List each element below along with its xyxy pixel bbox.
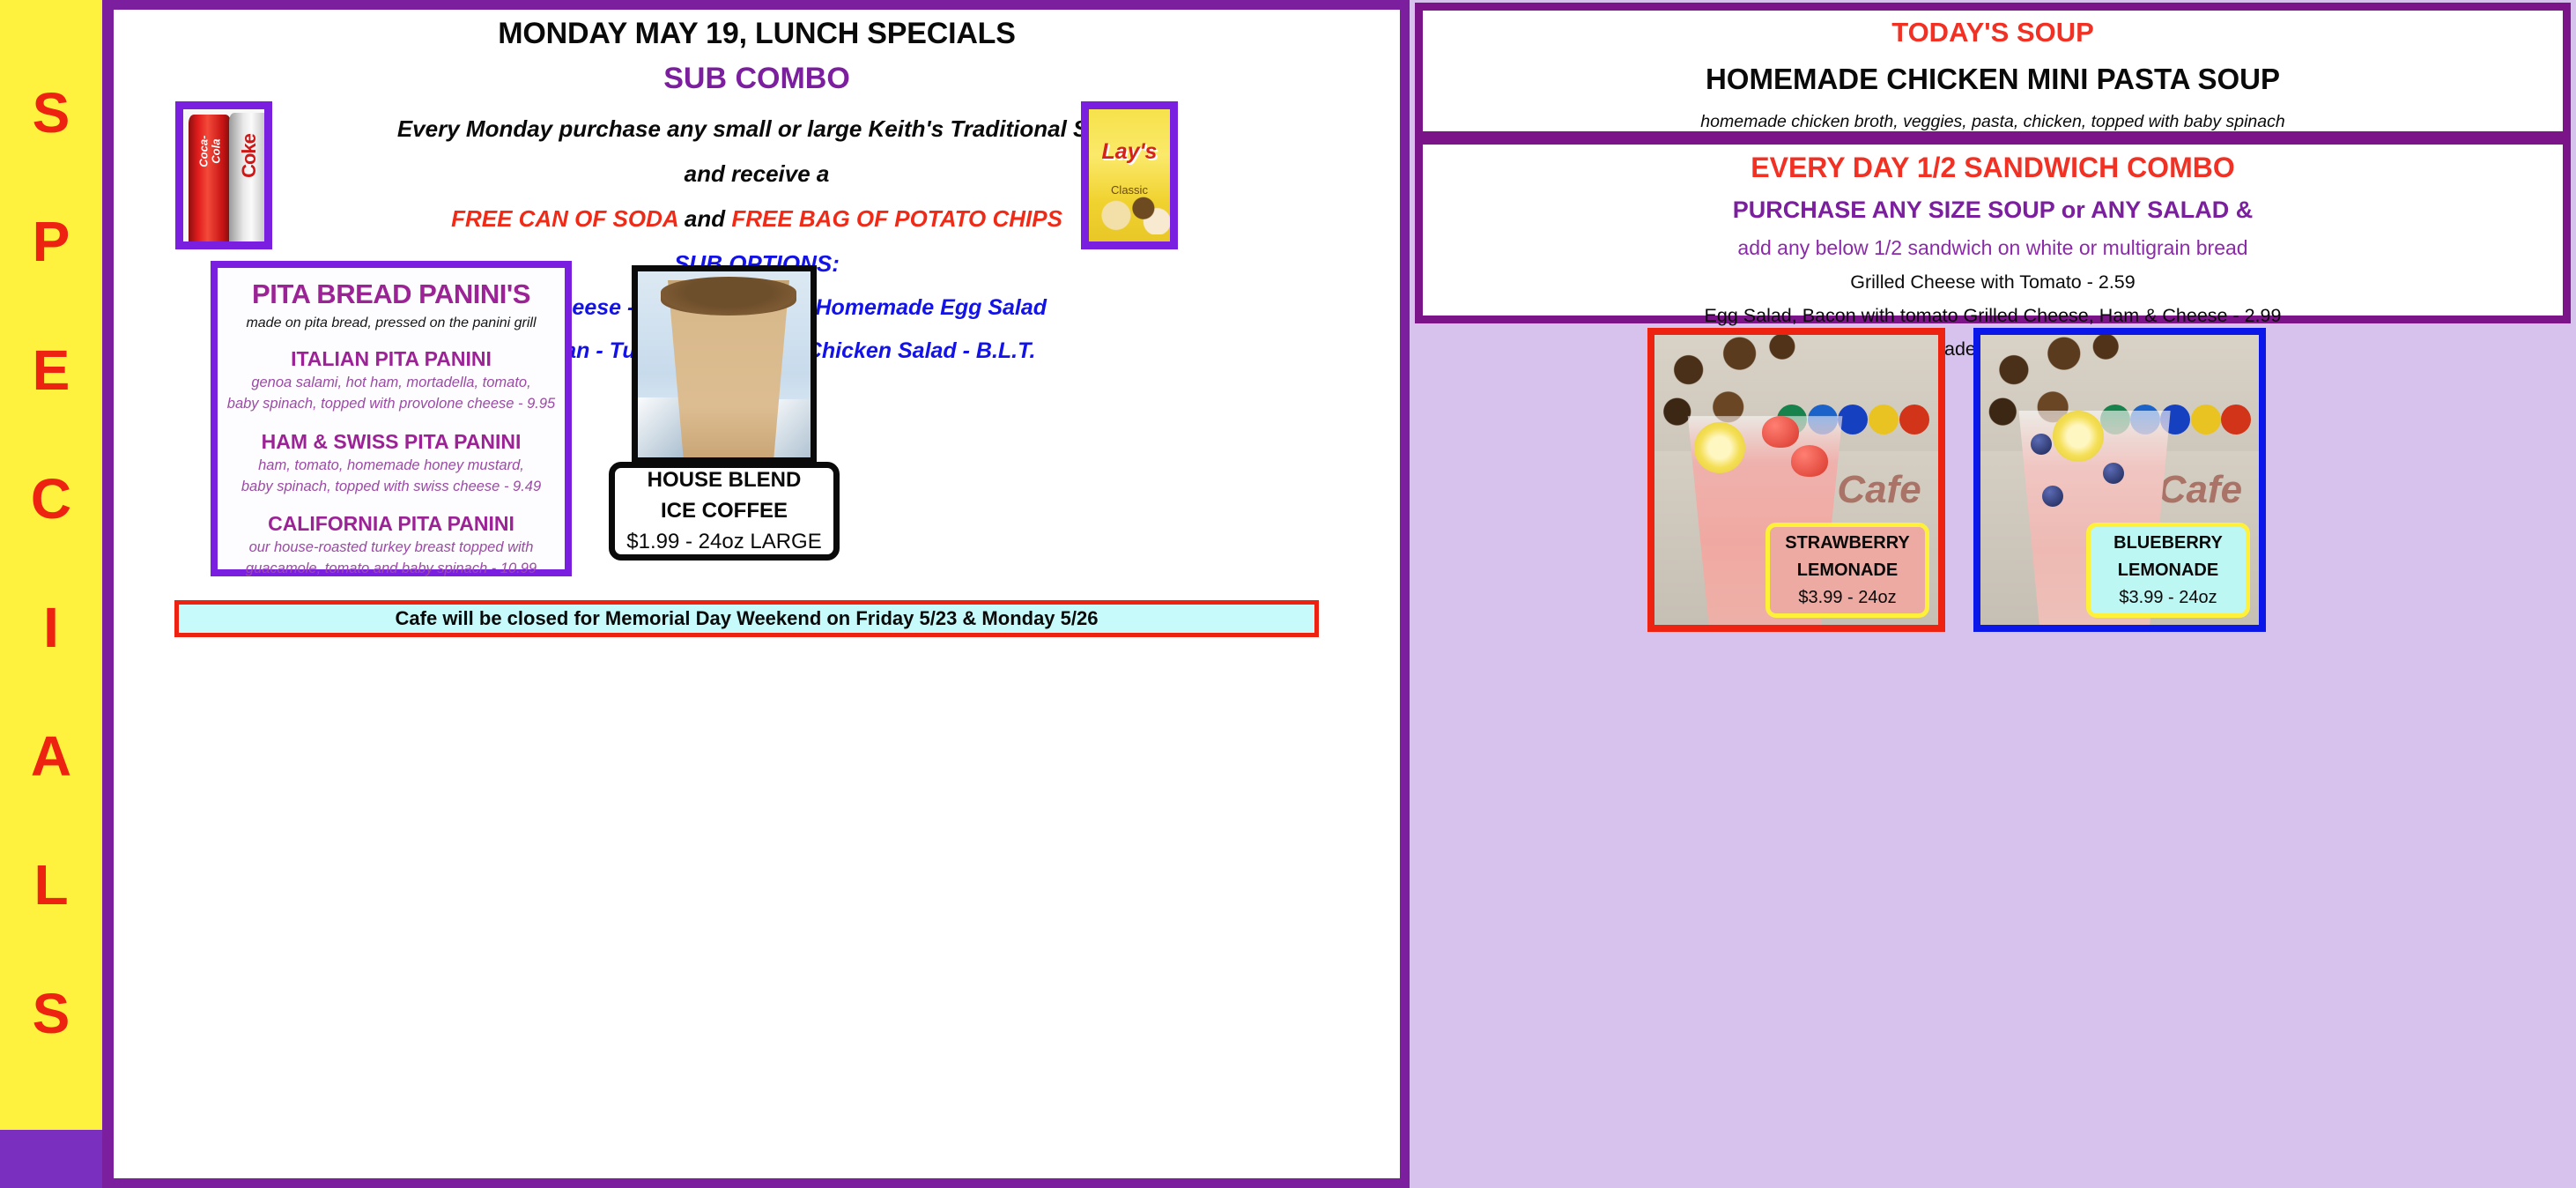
specials-letter: S xyxy=(33,985,70,1042)
pita-item: ITALIAN PITA PANINI genoa salami, hot ha… xyxy=(226,347,556,414)
lays-chips-art xyxy=(1099,192,1175,234)
strawberry-lemonade-card: Cafe STRAWBERRY LEMONADE $3.99 - 24oz xyxy=(1647,328,1945,632)
todays-soup-card: TODAY'S SOUP HOMEMADE CHICKEN MINI PASTA… xyxy=(1415,3,2571,139)
soup-name: HOMEMADE CHICKEN MINI PASTA SOUP xyxy=(1423,63,2563,96)
ice-coffee-line-1: HOUSE BLEND xyxy=(648,468,802,493)
ice-coffee-image xyxy=(632,265,817,464)
sandwich-combo-item: Egg Salad, Bacon with tomato Grilled Che… xyxy=(1423,305,2563,327)
pita-panini-card: PITA BREAD PANINI'S made on pita bread, … xyxy=(211,261,572,576)
blueberry-icon xyxy=(2031,434,2052,455)
pita-panini-subtitle: made on pita bread, pressed on the panin… xyxy=(226,316,556,331)
ice-coffee-cup-top xyxy=(661,277,796,316)
specials-rail-inner: S P E C I A L S xyxy=(0,0,102,1130)
ice-coffee-price: $1.99 - 24oz LARGE xyxy=(626,530,821,554)
decor-dot xyxy=(2191,405,2221,434)
free-chips-text: FREE BAG OF POTATO CHIPS xyxy=(731,205,1062,232)
decor-dot xyxy=(2221,405,2251,434)
closure-notice-text: Cafe will be closed for Memorial Day Wee… xyxy=(396,607,1099,630)
coke-can-art: Coca-Cola Coke xyxy=(183,109,264,241)
specials-letter: C xyxy=(31,471,71,527)
pita-item-desc-line: our house-roasted turkey breast topped w… xyxy=(226,538,556,557)
chips-image: Lay's Classic xyxy=(1081,101,1178,249)
lemon-slice-icon xyxy=(2053,411,2104,462)
pita-item-desc-line: baby spinach, topped with swiss cheese -… xyxy=(226,477,556,496)
specials-letter: I xyxy=(43,599,59,656)
specials-letter: L xyxy=(33,857,68,913)
pita-item-desc-line: baby spinach, topped with provolone chee… xyxy=(226,394,556,413)
sandwich-combo-title: EVERY DAY 1/2 SANDWICH COMBO xyxy=(1423,152,2563,184)
pita-item-name: CALIFORNIA PITA PANINI xyxy=(226,512,556,536)
right-column: TODAY'S SOUP HOMEMADE CHICKEN MINI PASTA… xyxy=(1410,0,2576,1188)
free-items-line: FREE CAN OF SODA and FREE BAG OF POTATO … xyxy=(114,205,1400,233)
cafe-watermark-text: Cafe xyxy=(2158,468,2242,512)
sandwich-combo-item: Grilled Cheese with Tomato - 2.59 xyxy=(1423,271,2563,293)
blueberry-lemonade-label: BLUEBERRY LEMONADE $3.99 - 24oz xyxy=(2086,523,2250,618)
promo-line-1: Every Monday purchase any small or large… xyxy=(114,115,1400,143)
lemonade-name-line-1: BLUEBERRY xyxy=(2113,533,2223,553)
page-title: MONDAY MAY 19, LUNCH SPECIALS xyxy=(114,17,1400,51)
free-conjunction: and xyxy=(678,205,732,232)
lays-logo-text: Lay's xyxy=(1096,139,1163,165)
closure-notice-banner: Cafe will be closed for Memorial Day Wee… xyxy=(174,600,1319,637)
decor-dot xyxy=(1838,405,1868,434)
coke-script-label: Coca-Cola xyxy=(197,132,221,171)
sandwich-combo-card: EVERY DAY 1/2 SANDWICH COMBO PURCHASE AN… xyxy=(1415,137,2571,323)
pita-panini-title: PITA BREAD PANINI'S xyxy=(226,278,556,310)
soda-image: Coca-Cola Coke xyxy=(175,101,272,249)
specials-letter: A xyxy=(31,728,71,784)
lemonade-price: $3.99 - 24oz xyxy=(2119,588,2217,608)
free-soda-text: FREE CAN OF SODA xyxy=(451,205,678,232)
sandwich-combo-subtitle: PURCHASE ANY SIZE SOUP or ANY SALAD & xyxy=(1423,197,2563,224)
blueberry-lemonade-card: Cafe BLUEBERRY LEMONADE $3.99 - 24oz xyxy=(1973,328,2266,632)
strawberry-lemonade-label: STRAWBERRY LEMONADE $3.99 - 24oz xyxy=(1765,523,1929,618)
todays-soup-title: TODAY'S SOUP xyxy=(1423,17,2563,48)
promo-line-2: and receive a xyxy=(114,160,1400,188)
menu-board: S P E C I A L S MONDAY MAY 19, LUNCH SPE… xyxy=(0,0,2576,1188)
pita-item-desc-line: guacamole, tomato and baby spinach - 10.… xyxy=(226,559,556,578)
lemonade-price: $3.99 - 24oz xyxy=(1798,588,1896,608)
lunch-specials-panel: MONDAY MAY 19, LUNCH SPECIALS SUB COMBO … xyxy=(102,0,1410,1188)
sandwich-combo-note: add any below 1/2 sandwich on white or m… xyxy=(1423,236,2563,260)
pita-item: CALIFORNIA PITA PANINI our house-roasted… xyxy=(226,512,556,579)
strawberry-icon xyxy=(1791,445,1828,477)
pita-item: HAM & SWISS PITA PANINI ham, tomato, hom… xyxy=(226,430,556,497)
coke-word-label: Coke xyxy=(238,134,261,178)
lemonade-name-line-2: LEMONADE xyxy=(1797,561,1898,581)
cafe-watermark-text: Cafe xyxy=(1837,468,1921,512)
lemon-slice-icon xyxy=(1694,422,1745,473)
pita-item-name: ITALIAN PITA PANINI xyxy=(226,347,556,371)
blueberry-icon xyxy=(2042,486,2063,507)
lays-bag-art: Lay's Classic xyxy=(1089,109,1170,241)
ice-coffee-line-2: ICE COFFEE xyxy=(661,499,788,523)
pita-item-desc-line: genoa salami, hot ham, mortadella, tomat… xyxy=(226,373,556,392)
decor-dot xyxy=(1869,405,1899,434)
specials-letter: S xyxy=(33,85,70,141)
specials-rail: S P E C I A L S xyxy=(0,0,102,1188)
blueberry-icon xyxy=(2103,463,2124,484)
specials-letter: E xyxy=(33,342,70,398)
lemonade-name-line-1: STRAWBERRY xyxy=(1785,533,1909,553)
pita-item-desc-line: ham, tomato, homemade honey mustard, xyxy=(226,456,556,475)
lemonade-name-line-2: LEMONADE xyxy=(2118,561,2218,581)
ice-coffee-label: HOUSE BLEND ICE COFFEE $1.99 - 24oz LARG… xyxy=(609,462,840,561)
decor-dot xyxy=(1899,405,1929,434)
pita-item-name: HAM & SWISS PITA PANINI xyxy=(226,430,556,454)
soup-description: homemade chicken broth, veggies, pasta, … xyxy=(1423,112,2563,132)
specials-letter: P xyxy=(33,213,70,270)
strawberry-icon xyxy=(1762,416,1799,448)
sub-combo-title: SUB COMBO xyxy=(114,62,1400,96)
